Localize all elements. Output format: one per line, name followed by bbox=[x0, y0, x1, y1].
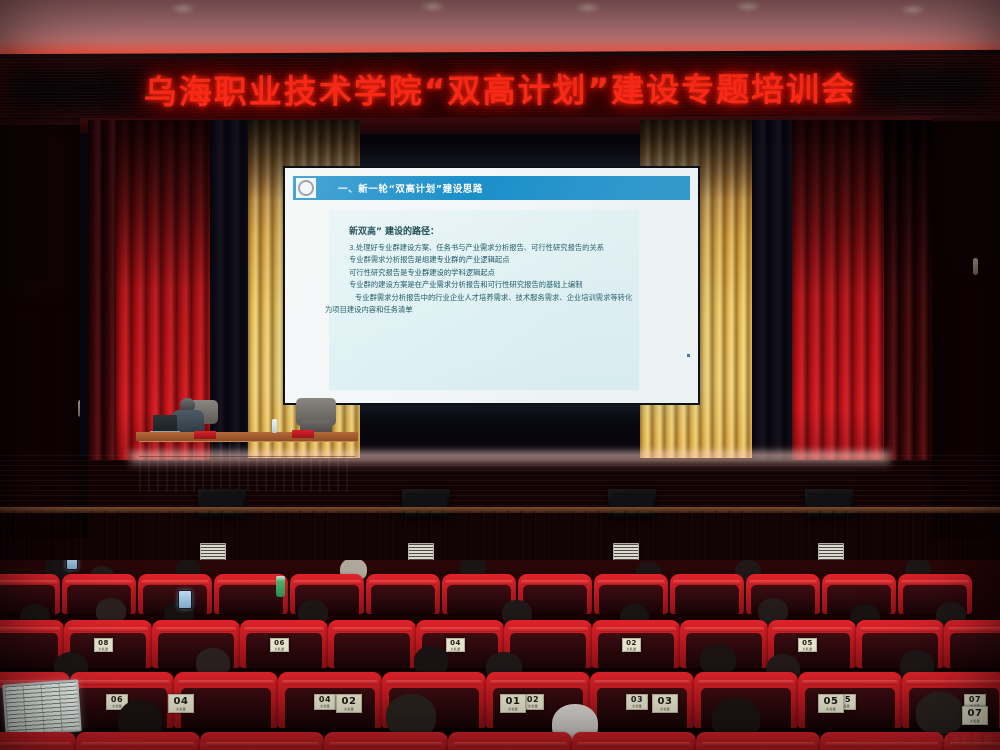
seat[interactable] bbox=[328, 620, 416, 668]
ceiling-light bbox=[900, 5, 926, 14]
projection-screen: 一、新一轮“双高计划”建设思路 新双高” 建设的路径： 3.处理好专业群建设方案… bbox=[283, 166, 700, 405]
slide-header-bar: 一、新一轮“双高计划”建设思路 bbox=[293, 176, 690, 200]
seat[interactable] bbox=[448, 732, 572, 750]
slide-line: 专业群需求分析报告是组建专业群的产业逻辑起点 bbox=[305, 254, 645, 266]
head-table-front bbox=[139, 441, 355, 492]
seat-number-plaque: 06 大礼堂 bbox=[270, 638, 289, 652]
seat-number-plaque: 03 大礼堂 bbox=[652, 694, 678, 713]
nameplate-left bbox=[194, 431, 216, 439]
seat-number: 04 bbox=[450, 640, 461, 647]
door-handle[interactable] bbox=[973, 258, 978, 275]
seat-number-plaque: 08 大礼堂 bbox=[94, 638, 113, 652]
seat-number: 03 bbox=[658, 697, 673, 707]
seat[interactable] bbox=[572, 732, 696, 750]
phone-device[interactable] bbox=[66, 560, 78, 570]
seat[interactable] bbox=[944, 620, 1000, 668]
seat-number-plaque: 04 大礼堂 bbox=[446, 638, 465, 652]
ring-logo-icon bbox=[296, 178, 316, 198]
slide-surface: 一、新一轮“双高计划”建设思路 新双高” 建设的路径： 3.处理好专业群建设方案… bbox=[285, 168, 698, 403]
seat-number-sub: 大礼堂 bbox=[627, 648, 637, 651]
slide-line: 专业群需求分析报告中的行业企业人才培养需求、技术服务需求、企业培训需求等转化 bbox=[305, 292, 645, 304]
ceiling-light bbox=[575, 3, 601, 12]
curtain-red-left-outer bbox=[88, 120, 116, 460]
slide-title: 一、新一轮“双高计划”建设思路 bbox=[338, 181, 483, 195]
seat[interactable] bbox=[366, 574, 440, 614]
ceiling-light bbox=[170, 4, 196, 13]
seat-number-sub: 大礼堂 bbox=[803, 648, 813, 651]
phone-device[interactable] bbox=[178, 590, 192, 609]
seat-number: 04 bbox=[174, 697, 189, 707]
seat-number: 02 bbox=[342, 697, 357, 707]
seat-number-plaque: 05 大礼堂 bbox=[798, 638, 817, 652]
seat-number: 02 bbox=[527, 696, 539, 704]
slide-line: 可行性研究报告是专业群建设的学科逻辑起点 bbox=[305, 267, 645, 279]
water-bottle bbox=[272, 419, 277, 433]
seat[interactable] bbox=[200, 732, 324, 750]
seat-number-sub: 大礼堂 bbox=[275, 648, 285, 651]
seat-number-sub: 大礼堂 bbox=[632, 705, 642, 708]
curtain-shadow bbox=[116, 120, 210, 290]
wall-shadow bbox=[944, 118, 1000, 268]
seat[interactable] bbox=[0, 732, 76, 750]
seat-number-sub: 大礼堂 bbox=[344, 708, 354, 711]
audience-area: 08 大礼堂 06 大礼堂 04 大礼堂 02 大礼堂 05 大礼堂 bbox=[0, 560, 1000, 750]
nameplate-right bbox=[292, 430, 314, 438]
curtain-black-right bbox=[752, 120, 792, 460]
led-banner: 乌海职业技术学院“双高计划”建设专题培训会 bbox=[0, 55, 1000, 121]
ceiling-light bbox=[420, 2, 446, 11]
auditorium-photo: 乌海职业技术学院“双高计划”建设专题培训会 一、新一轮“双高计划”建设思路 新双… bbox=[0, 0, 1000, 750]
slide-line: 3.处理好专业群建设方案、任务书与产业需求分析报告、可行性研究报告的关系 bbox=[305, 242, 645, 254]
seat-number: 03 bbox=[631, 696, 643, 704]
seat-number-sub: 大礼堂 bbox=[508, 708, 518, 711]
seat-number-sub: 大礼堂 bbox=[451, 648, 461, 651]
seat[interactable] bbox=[670, 574, 744, 614]
seat-number-plaque: 05 大礼堂 bbox=[818, 694, 844, 713]
curtain-shadow bbox=[792, 120, 932, 295]
seat-number-sub: 大礼堂 bbox=[176, 708, 186, 711]
seat[interactable] bbox=[76, 732, 200, 750]
slide-marker bbox=[687, 354, 690, 357]
seat-number-sub: 大礼堂 bbox=[660, 708, 670, 711]
seat-number: 02 bbox=[626, 640, 637, 647]
seat-number-plaque: 02 大礼堂 bbox=[622, 638, 641, 652]
seat-number-sub: 大礼堂 bbox=[826, 708, 836, 711]
ceiling-light bbox=[735, 2, 761, 11]
seat-number-plaque: 02 大礼堂 bbox=[336, 694, 362, 713]
wall-shadow bbox=[0, 118, 62, 298]
slide-body: 新双高” 建设的路径： 3.处理好专业群建设方案、任务书与产业需求分析报告、可行… bbox=[329, 210, 639, 390]
seat-number-sub: 大礼堂 bbox=[970, 720, 980, 723]
seat-number-sub: 大礼堂 bbox=[528, 705, 538, 708]
attendee bbox=[916, 692, 964, 734]
slide-line: 专业群的建设方案是在产业需求分析报告和可行性研究报告的基础上编制 bbox=[305, 279, 645, 291]
attendee-laptop[interactable] bbox=[2, 679, 81, 736]
seat-number-plaque: 03 大礼堂 bbox=[626, 694, 648, 710]
slide-body-heading: 新双高” 建设的路径： bbox=[349, 224, 439, 237]
banner-text: 乌海职业技术学院“双高计划”建设专题培训会 bbox=[0, 62, 1000, 114]
water-bottle bbox=[276, 576, 285, 597]
attendee bbox=[700, 644, 736, 675]
seat-number-sub: 大礼堂 bbox=[320, 705, 330, 708]
seat[interactable] bbox=[324, 732, 448, 750]
watermark: 乌海职业技 bbox=[939, 731, 994, 746]
seat-number: 01 bbox=[506, 697, 521, 707]
seat-number: 08 bbox=[98, 640, 109, 647]
seat[interactable] bbox=[696, 732, 820, 750]
seat-number: 04 bbox=[319, 696, 331, 704]
slide-line: 为项目建设内容和任务清单 bbox=[305, 304, 645, 316]
seat-number: 07 bbox=[969, 696, 981, 704]
seat-number-plaque: 01 大礼堂 bbox=[500, 694, 526, 713]
seat-number-plaque: 04 大礼堂 bbox=[314, 694, 336, 710]
seat-number-plaque: 04 大礼堂 bbox=[168, 694, 194, 713]
slide-body-lines: 3.处理好专业群建设方案、任务书与产业需求分析报告、可行性研究报告的关系 专业群… bbox=[305, 242, 645, 316]
seat-number-sub: 大礼堂 bbox=[99, 648, 109, 651]
seat-number-plaque: 07 大礼堂 bbox=[962, 706, 988, 725]
seat-number: 05 bbox=[802, 640, 813, 647]
seat-number: 06 bbox=[274, 640, 285, 647]
seat-number: 07 bbox=[968, 709, 983, 719]
head-table-top bbox=[136, 432, 358, 441]
seat[interactable] bbox=[820, 732, 944, 750]
speaker-laptop-screen bbox=[153, 415, 177, 432]
seat-number: 05 bbox=[824, 697, 839, 707]
